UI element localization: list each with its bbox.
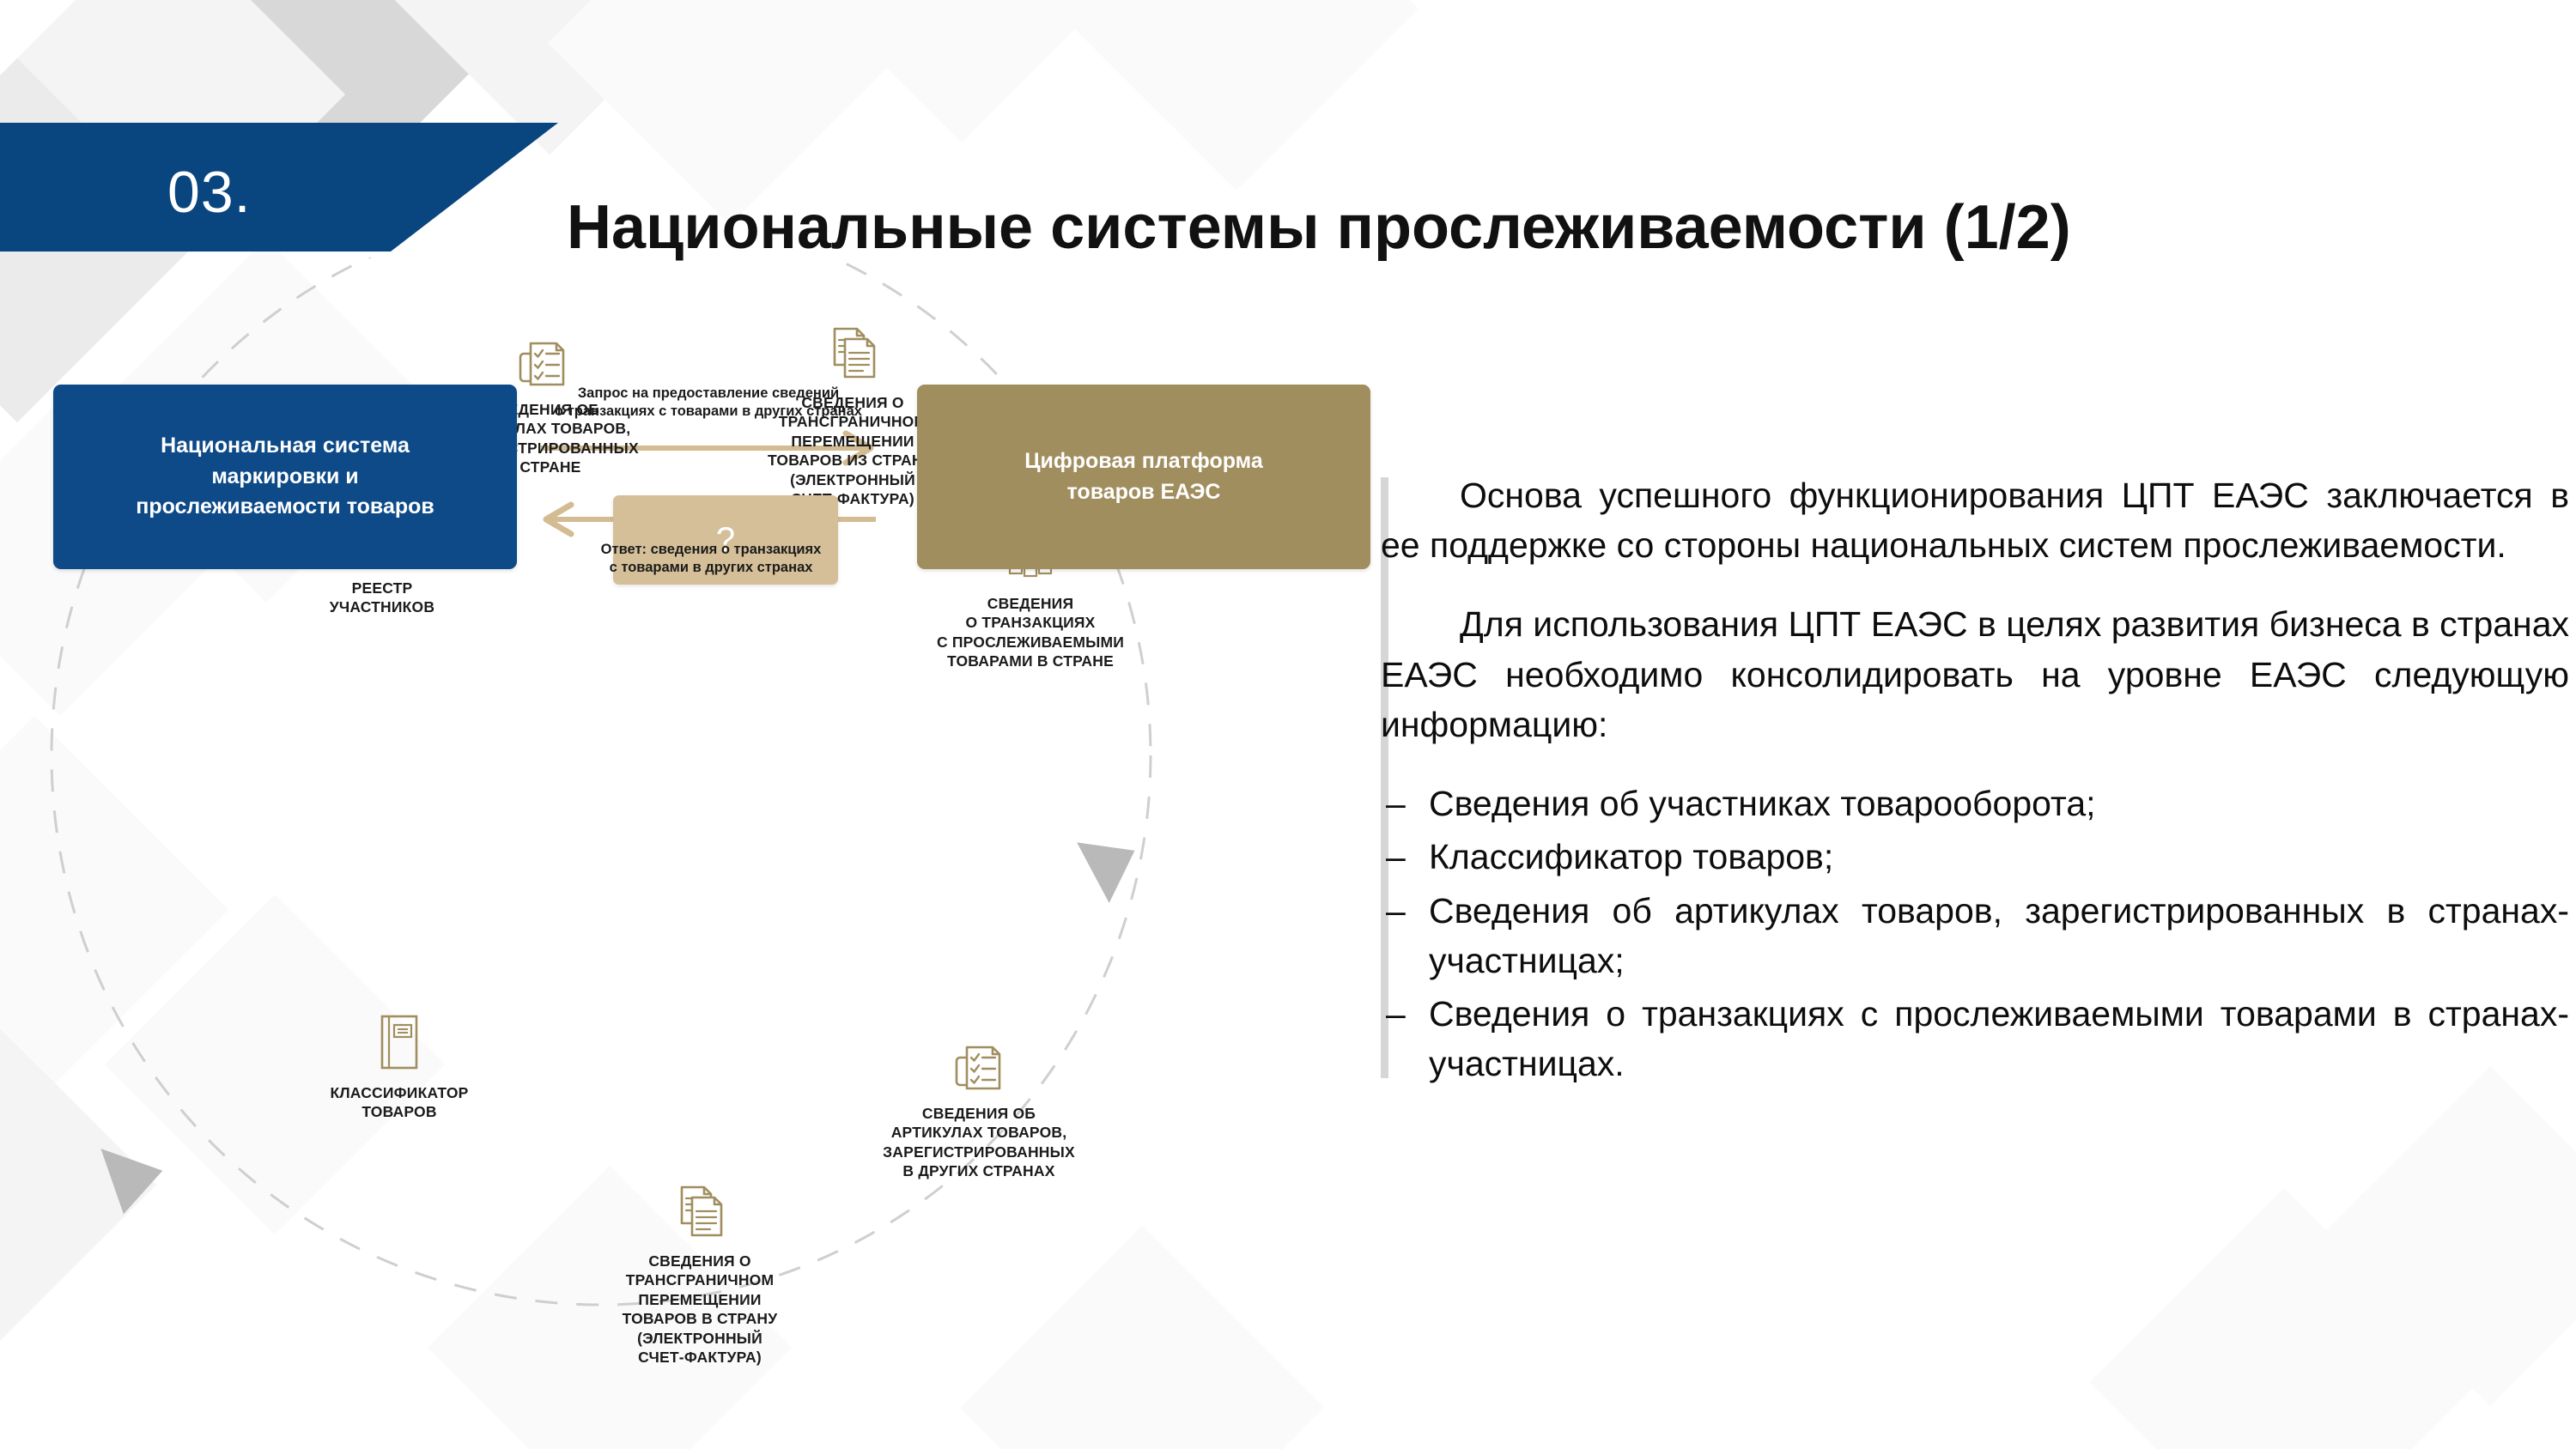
book-icon — [292, 1013, 507, 1071]
cycle-arrow-right — [1077, 821, 1151, 903]
header-section-number: 03. — [167, 159, 252, 226]
box-national-marking-system[interactable]: Национальная система маркировки и просле… — [53, 385, 517, 569]
documents-icon — [575, 1183, 824, 1240]
documents-icon — [728, 324, 977, 381]
node-caption: КЛАССИФИКАТОР ТОВАРОВ — [292, 1083, 507, 1122]
node-articles-other-countries: СВЕДЕНИЯ ОБ АРТИКУЛАХ ТОВАРОВ, ЗАРЕГИСТР… — [850, 1037, 1108, 1181]
consolidation-bullet-list: Сведения об участниках товарооборота; Кл… — [1381, 779, 2576, 1088]
cycle-arrow-left — [100, 1137, 169, 1216]
arrow-label-response: Ответ: сведения о транзакциях с товарами… — [548, 541, 874, 578]
checklist-icon — [850, 1037, 1108, 1092]
node-caption: РЕЕСТР УЧАСТНИКОВ — [270, 579, 494, 617]
right-text-panel: Основа успешного функционирования ЦПТ ЕА… — [1381, 470, 2576, 1092]
box-digital-platform-eaeu[interactable]: Цифровая платформа товаров ЕАЭС — [917, 385, 1370, 569]
node-goods-classifier: КЛАССИФИКАТОР ТОВАРОВ — [292, 1013, 507, 1122]
node-caption: СВЕДЕНИЯ ОБ АРТИКУЛАХ ТОВАРОВ, ЗАРЕГИСТР… — [850, 1104, 1108, 1181]
node-caption: СВЕДЕНИЯ О ТРАНЗАКЦИЯХ С ПРОСЛЕЖИВАЕМЫМИ… — [902, 594, 1159, 671]
node-caption: СВЕДЕНИЯ О ТРАНСГРАНИЧНОМ ПЕРЕМЕЩЕНИИ ТО… — [575, 1252, 824, 1367]
paragraph-usage: Для использования ЦПТ ЕАЭС в целях разви… — [1381, 599, 2576, 749]
page-title: Национальные системы прослеживаемости (1… — [567, 192, 2071, 263]
checklist-icon — [414, 333, 671, 388]
arrow-label-request: Запрос на предоставление сведений о тран… — [541, 385, 876, 421]
list-item: Сведения об артикулах товаров, зарегистр… — [1381, 886, 2576, 985]
list-item: Классификатор товаров; — [1381, 832, 2576, 882]
node-cross-border-in: СВЕДЕНИЯ О ТРАНСГРАНИЧНОМ ПЕРЕМЕЩЕНИИ ТО… — [575, 1183, 824, 1367]
traceability-diagram: СВЕДЕНИЯ ОБ АРТИКУЛАХ ТОВАРОВ, ЗАРЕГИСТР… — [0, 258, 1340, 1449]
paragraph-intro: Основа успешного функционирования ЦПТ ЕА… — [1381, 470, 2576, 570]
list-item: Сведения о транзакциях с прослеживаемыми… — [1381, 989, 2576, 1088]
list-item: Сведения об участниках товарооборота; — [1381, 779, 2576, 828]
